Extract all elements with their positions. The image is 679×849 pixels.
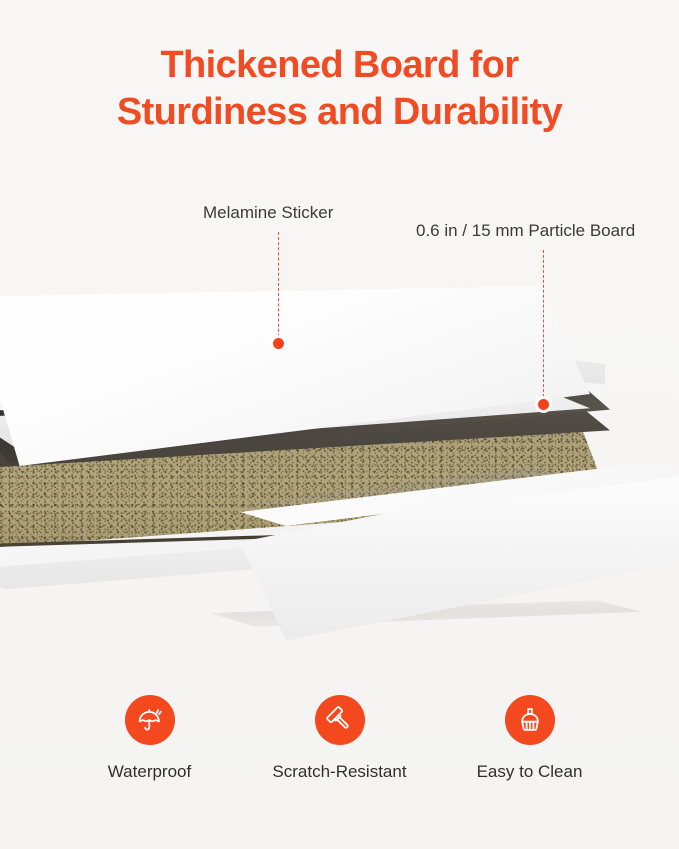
leader-dot-icon-particle-board: [538, 399, 549, 410]
leader-line-particle-board: [543, 250, 544, 402]
page-title-line-1: Thickened Board for: [0, 42, 679, 89]
hammer-icon: [315, 695, 365, 745]
feature-label-waterproof: Waterproof: [108, 762, 191, 782]
leader-line-melamine: [278, 232, 279, 342]
feature-item-scratch-resistant: Scratch-Resistant: [245, 695, 435, 782]
callout-label-particle-board: 0.6 in / 15 mm Particle Board: [416, 220, 635, 241]
feature-label-easy-to-clean: Easy to Clean: [477, 762, 583, 782]
infographic-page: Thickened Board for Sturdiness and Durab…: [0, 0, 679, 849]
broom-icon: [505, 695, 555, 745]
umbrella-icon: [125, 695, 175, 745]
leader-dot-icon-melamine: [273, 338, 284, 349]
board-cross-section-illustration: [0, 268, 679, 648]
feature-item-easy-to-clean: Easy to Clean: [435, 695, 625, 782]
callout-label-melamine-sticker: Melamine Sticker: [203, 202, 333, 223]
feature-item-waterproof: Waterproof: [55, 695, 245, 782]
feature-list: Waterproof Scratch-Resistant: [0, 695, 679, 782]
feature-label-scratch-resistant: Scratch-Resistant: [272, 762, 406, 782]
page-title: Thickened Board for Sturdiness and Durab…: [0, 42, 679, 136]
page-title-line-2: Sturdiness and Durability: [0, 89, 679, 136]
